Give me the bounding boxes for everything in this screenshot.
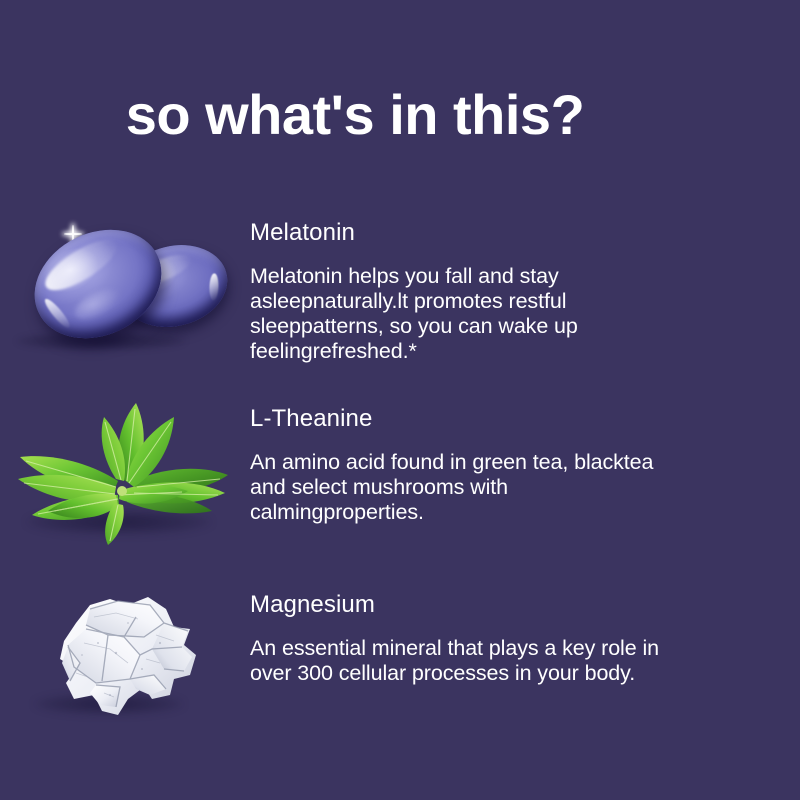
ingredient-name: Magnesium (250, 591, 670, 619)
melatonin-artwork (0, 205, 250, 375)
melatonin-copy: Melatonin Melatonin helps you fall and s… (250, 205, 670, 364)
softgel-capsules-icon (28, 211, 218, 361)
ingredient-description: An amino acid found in green tea, blackt… (250, 450, 670, 525)
magnesium-copy: Magnesium An essential mineral that play… (250, 577, 670, 686)
magnesium-artwork (0, 577, 250, 747)
page-title: so what's in this? (0, 84, 800, 146)
ingredient-description: Melatonin helps you fall and stay asleep… (250, 264, 670, 364)
ingredient-row-melatonin: Melatonin Melatonin helps you fall and s… (0, 205, 800, 391)
ingredient-description: An essential mineral that plays a key ro… (250, 636, 670, 686)
ingredient-list: Melatonin Melatonin helps you fall and s… (0, 205, 800, 763)
l-theanine-artwork (0, 391, 250, 561)
magnesium-mineral-icon (24, 583, 224, 733)
ingredient-name: L-Theanine (250, 405, 670, 433)
ingredients-poster: so what's in this? Melatonin Melatonin (0, 0, 800, 800)
green-tea-leaves-icon (6, 395, 241, 555)
capsule-front (16, 209, 179, 359)
ingredient-row-l-theanine: L-Theanine An amino acid found in green … (0, 391, 800, 577)
ingredient-row-magnesium: Magnesium An essential mineral that play… (0, 577, 800, 763)
l-theanine-copy: L-Theanine An amino acid found in green … (250, 391, 670, 525)
ingredient-name: Melatonin (250, 219, 670, 247)
